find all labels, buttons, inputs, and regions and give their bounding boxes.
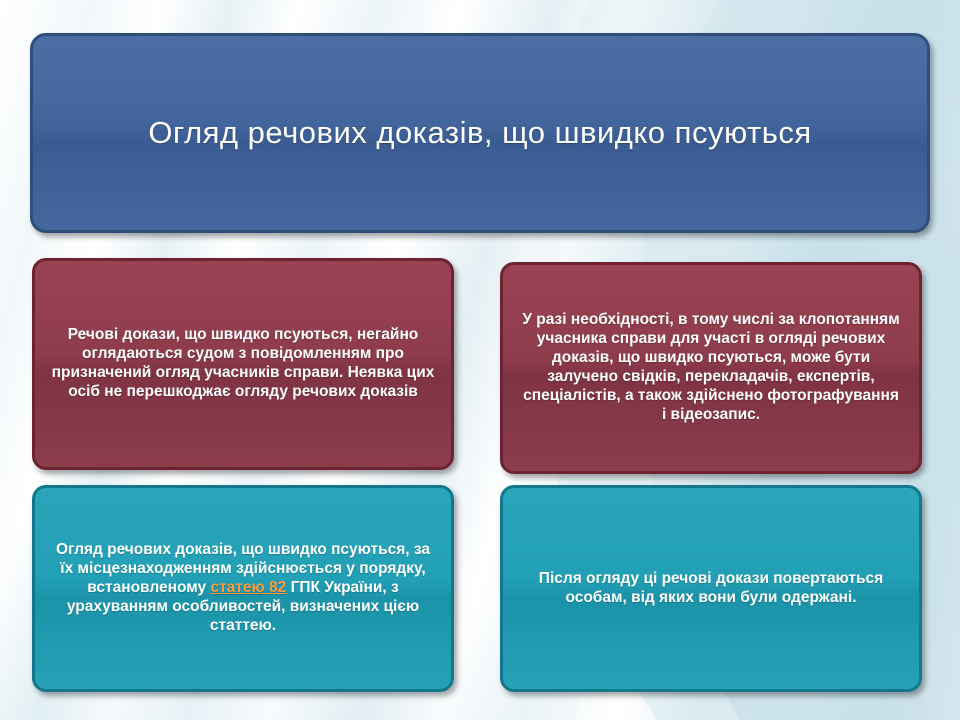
content-box-1: Речові докази, що швидко псуються, негай… xyxy=(32,258,454,470)
content-box-3: Огляд речових доказів, що швидко псуютьс… xyxy=(32,485,454,692)
content-box-2-text: У разі необхідності, в тому числі за кло… xyxy=(503,311,919,424)
title-box: Огляд речових доказів, що швидко псуютьс… xyxy=(30,33,930,233)
statute-link[interactable]: статею 82 xyxy=(210,579,286,596)
content-box-2: У разі необхідності, в тому числі за кло… xyxy=(500,262,922,474)
content-box-1-text: Речові докази, що швидко псуються, негай… xyxy=(35,326,451,402)
slide-canvas: Огляд речових доказів, що швидко псуютьс… xyxy=(0,0,960,720)
content-box-3-text: Огляд речових доказів, що швидко псуютьс… xyxy=(35,541,451,636)
content-box-4: Після огляду ці речові докази повертають… xyxy=(500,485,922,692)
page-title: Огляд речових доказів, що швидко псуютьс… xyxy=(108,114,851,151)
content-box-4-text: Після огляду ці речові докази повертають… xyxy=(503,570,919,608)
